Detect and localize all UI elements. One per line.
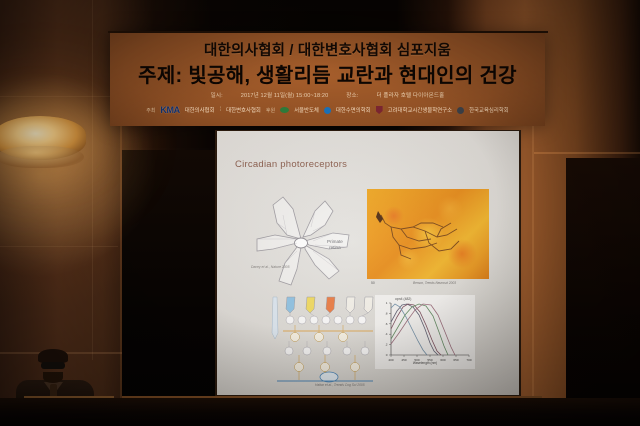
speaker-hair: [38, 349, 68, 363]
retina-rosette-icon: [253, 193, 369, 289]
projection-screen: Circadian photoreceptors Primate: [217, 131, 519, 395]
svg-text:0: 0: [386, 353, 388, 357]
retina-diagram: Primate retina: [253, 193, 369, 289]
retina-label-line2: retina: [329, 245, 341, 250]
spectral-sensitivity-plot: opn4 (482): [375, 295, 475, 369]
seoul-semiconductor-logo-icon: [280, 107, 289, 113]
wall-seam: [534, 152, 640, 154]
neuron-trace-icon: [367, 189, 489, 279]
banner-datetime-label: 일시:: [211, 93, 223, 99]
melanopsin-micrograph: [367, 189, 489, 279]
sponsor-0-name: 서울반도체: [294, 106, 319, 114]
micrograph-scale-bar: 50: [371, 281, 375, 285]
dark-doorway-right: [566, 158, 640, 426]
symposium-banner: 대한의사협회 / 대한변호사협회 심포지움 주제: 빛공해, 생활리듬 교란과 …: [110, 33, 545, 126]
sleep-medicine-logo-icon: [324, 107, 331, 114]
micrograph-citation: Berson, Trends Neurosci 2003: [413, 281, 456, 285]
stage-foreground: [0, 398, 640, 426]
sponsor-separator: ⁞: [219, 107, 221, 113]
organizer-1-name: 대한변호사협회: [226, 106, 261, 114]
kma-logo-icon: KMA: [160, 105, 179, 115]
speaker-glasses-icon: [41, 362, 65, 369]
retina-label: Primate retina: [327, 239, 343, 251]
banner-venue: 더 플라자 호텔 다이아몬드홀: [376, 93, 444, 99]
plot-x-axis-label: Wavelength (nm): [375, 361, 475, 365]
conference-photo: 대한의사협회 / 대한변호사협회 심포지움 주제: 빛공해, 생활리듬 교란과 …: [0, 0, 640, 426]
banner-subtitle: 대한의사협회 / 대한변호사협회 심포지움: [110, 39, 545, 60]
svg-text:.2: .2: [385, 343, 388, 347]
svg-text:.4: .4: [385, 332, 388, 336]
plot-canvas: 400 450 500 550 600 650 700 0 .2 .4 .6 .…: [375, 295, 475, 369]
chronobiology-institute-logo-icon: [376, 106, 383, 114]
circuit-citation: Hattar et al., Trends Cog Sci 2005: [315, 383, 365, 387]
organizer-0-name: 대한의사협회: [185, 106, 215, 114]
banner-venue-label: 장소:: [346, 93, 358, 99]
sponsor-2-name: 고려대학교시간생물학연구소: [388, 106, 452, 114]
sponsor-3-name: 한국교육심리학회: [469, 106, 509, 114]
host-label: 주최: [146, 107, 155, 114]
speaker-beard: [43, 372, 63, 383]
retinal-circuit-diagram: [269, 293, 381, 389]
svg-text:.6: .6: [385, 322, 388, 326]
banner-datetime: 2017년 12월 11일(월) 15:00~18:20: [241, 93, 329, 99]
svg-text:1: 1: [386, 301, 388, 305]
banner-sponsor-row: 주최 KMA 대한의사협회 ⁞ 대한변호사협회 후원 서울반도체 대한수면의학회…: [110, 105, 545, 115]
educational-psychology-logo-icon: [457, 107, 464, 114]
photoreceptor-circuit-icon: [269, 293, 381, 389]
support-label: 후원: [266, 107, 275, 114]
slide-title: Circadian photoreceptors: [235, 159, 347, 170]
banner-title: 주제: 빛공해, 생활리듬 교란과 현대인의 건강: [110, 59, 545, 88]
ceiling-lamp-rim: [0, 146, 84, 168]
retina-citation: Dacey et al., Nature 2005: [251, 265, 289, 269]
plot-legend: opn4 (482): [395, 297, 411, 301]
wall-seam: [532, 118, 534, 424]
sponsor-1-name: 대한수면의학회: [336, 106, 371, 114]
retina-label-line1: Primate: [327, 239, 343, 244]
banner-meta: 일시:2017년 12월 11일(월) 15:00~18:20장소:더 플라자 …: [110, 91, 545, 99]
svg-text:.8: .8: [385, 311, 388, 315]
